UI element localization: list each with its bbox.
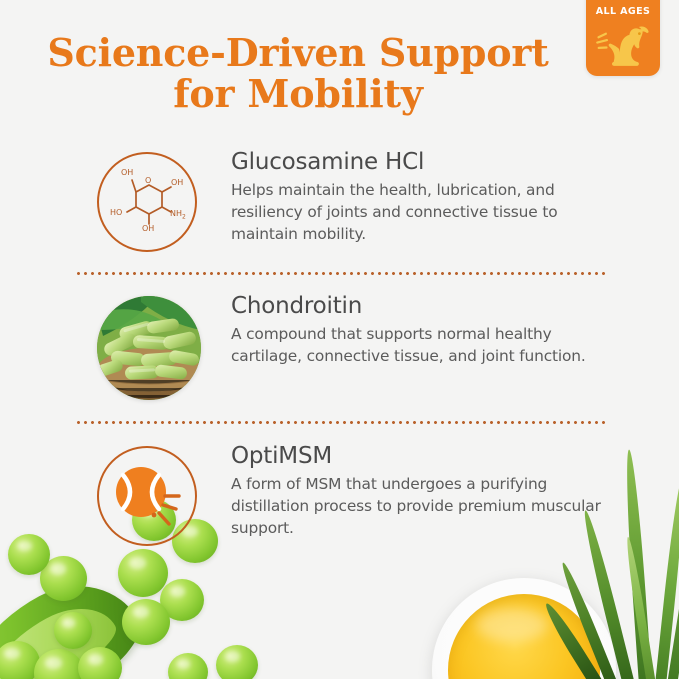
- ingredient-text: Chondroitin A compound that supports nor…: [221, 292, 679, 368]
- herb-blade: [558, 561, 618, 679]
- ingredient-media: [97, 446, 221, 546]
- ingredient-row: OH O OH HO OH NH2 Glucosamine HCl Helps …: [0, 152, 679, 252]
- pea: [168, 653, 208, 679]
- ingredient-name: Chondroitin: [231, 292, 605, 321]
- molecule-label-oh-right: OH: [171, 178, 183, 187]
- ingredient-media: [97, 296, 221, 400]
- oil-highlight: [476, 608, 548, 642]
- pea: [118, 549, 168, 597]
- pea: [160, 579, 204, 621]
- pea-pod: [0, 560, 155, 679]
- ingredient-row: OptiMSM A form of MSM that undergoes a p…: [0, 446, 679, 546]
- all-ages-badge-label: ALL AGES: [586, 6, 660, 17]
- infographic-canvas: Science-Driven Support for Mobility ALL …: [0, 0, 679, 679]
- molecule-label-nh2: NH2: [170, 209, 186, 221]
- herb-blade: [541, 600, 603, 679]
- ingredient-description: A form of MSM that undergoes a purifying…: [231, 474, 605, 540]
- green-capsules-photo: [97, 296, 201, 400]
- molecule-label-oh-top: OH: [121, 168, 133, 177]
- all-ages-badge: ALL AGES: [586, 0, 660, 76]
- herb-blade: [624, 536, 656, 679]
- molecule-label-oh-bottom: OH: [142, 224, 154, 233]
- ingredient-name: Glucosamine HCl: [231, 148, 605, 177]
- section-divider: [75, 272, 605, 275]
- section-divider: [75, 421, 605, 424]
- ingredient-text: OptiMSM A form of MSM that undergoes a p…: [221, 442, 679, 539]
- ingredient-description: A compound that supports normal healthy …: [231, 324, 605, 368]
- ingredient-text: Glucosamine HCl Helps maintain the healt…: [221, 148, 679, 245]
- pea: [40, 556, 87, 601]
- molecule-label-ring-o: O: [145, 176, 151, 185]
- header: Science-Driven Support for Mobility ALL …: [0, 0, 679, 140]
- page-title-line-1: Science-Driven Support: [47, 30, 548, 75]
- ingredient-media: OH O OH HO OH NH2: [97, 152, 221, 252]
- pea: [216, 645, 258, 679]
- page-title-line-2: for Mobility: [28, 73, 568, 114]
- oil-bowl-decoration: [432, 578, 616, 679]
- glucosamine-molecule-icon: OH O OH HO OH NH2: [97, 152, 197, 252]
- ingredient-row: Chondroitin A compound that supports nor…: [0, 296, 679, 400]
- molecule-label-ho-left: HO: [110, 208, 122, 217]
- sitting-dog-icon: [595, 22, 651, 72]
- pea: [54, 612, 92, 649]
- ingredient-description: Helps maintain the health, lubrication, …: [231, 180, 605, 246]
- ingredient-name: OptiMSM: [231, 442, 605, 471]
- tennis-ball-motion-icon: [97, 446, 197, 546]
- pea: [78, 647, 122, 679]
- pea-pod-inner: [0, 591, 125, 679]
- pea: [34, 649, 84, 679]
- oil-surface: [448, 594, 600, 679]
- pea: [0, 641, 40, 679]
- pea: [122, 599, 170, 645]
- page-title: Science-Driven Support for Mobility: [28, 32, 568, 114]
